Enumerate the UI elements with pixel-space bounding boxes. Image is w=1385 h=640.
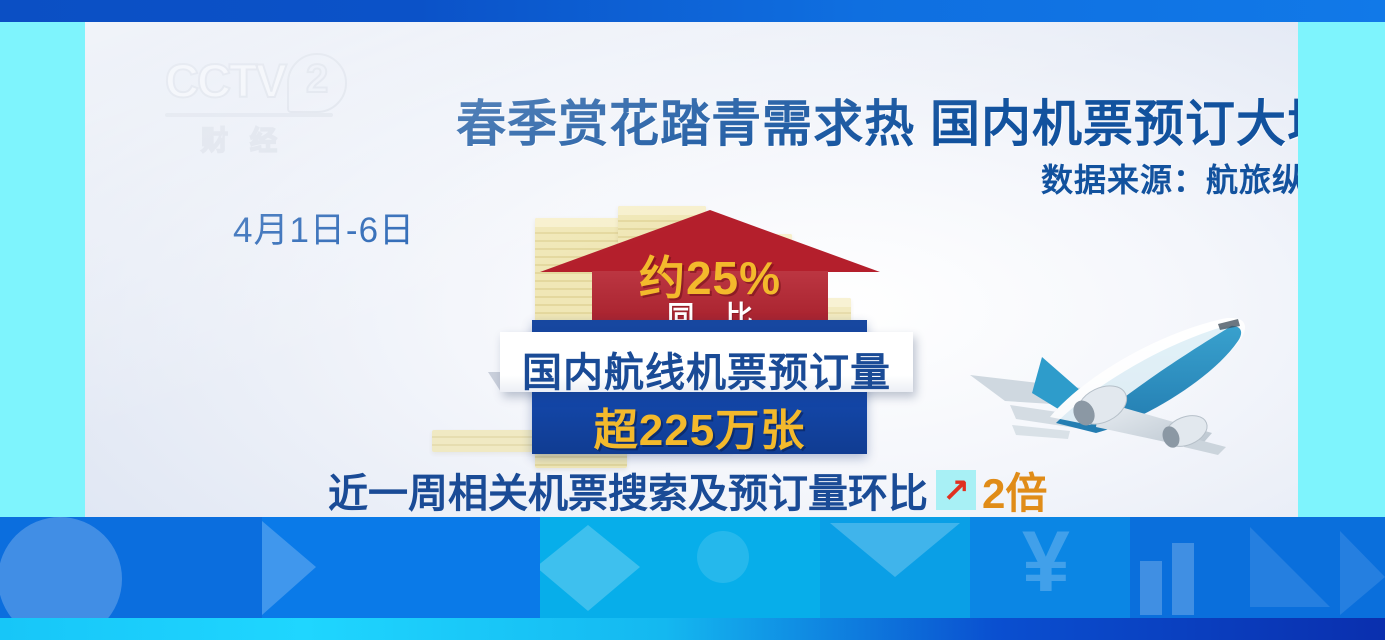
svg-text:¥: ¥ xyxy=(1022,517,1070,610)
ribbon-label: 国内航线机票预订量 xyxy=(500,340,913,398)
content-stage: 约25% 同 比 超225万张 国内航线机票预订量 CCTV 2 财经 春季赏花… xyxy=(85,22,1298,517)
cctv-channel-number: 2 xyxy=(287,53,347,113)
footnote-multiplier: 2倍 xyxy=(982,460,1047,518)
bottom-band-footer xyxy=(0,618,1385,640)
broadcast-infographic: 约25% 同 比 超225万张 国内航线机票预订量 CCTV 2 财经 春季赏花… xyxy=(0,0,1385,640)
cctv-channel-name: 财经 xyxy=(201,119,299,158)
airplane-icon xyxy=(950,297,1270,462)
cctv-logo-underline xyxy=(165,113,333,117)
footnote-text: 近一周相关机票搜索及预订量环比 xyxy=(328,461,928,517)
page-title: 春季赏花踏青需求热 国内机票预订大增 xyxy=(418,84,1298,156)
left-cyan-band xyxy=(0,22,85,517)
bottom-decor-band: ¥ xyxy=(0,517,1385,640)
data-source-label: 数据来源：航旅纵横 xyxy=(418,155,1298,201)
right-cyan-band xyxy=(1298,22,1385,517)
cctv-logo-watermark: CCTV 2 财经 xyxy=(165,57,355,162)
footnote-line: 近一周相关机票搜索及预订量环比 ↗ 2倍 xyxy=(328,462,1047,517)
trend-up-right-icon: ↗ xyxy=(936,470,976,510)
date-range-label: 4月1日-6日 xyxy=(233,202,415,253)
top-frame-strip xyxy=(0,0,1385,22)
booking-value-text: 超225万张 xyxy=(532,394,867,458)
